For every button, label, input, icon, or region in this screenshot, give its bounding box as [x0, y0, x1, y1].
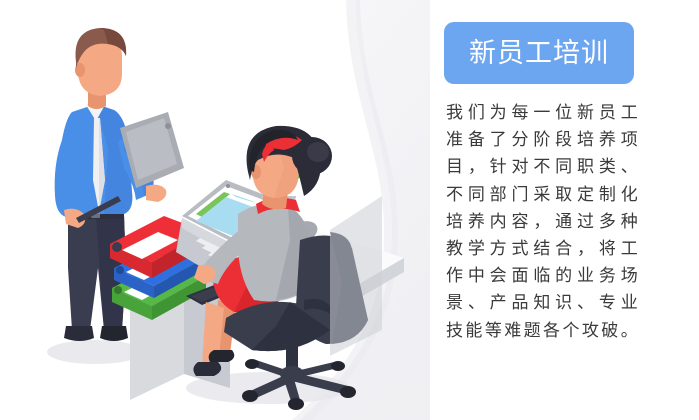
- page-title: 新员工培训: [469, 40, 609, 67]
- description-text: 我们为每一位新员工 准备了分阶段培养项 目，针对不同职类、 不同部门采取定制化 …: [446, 100, 638, 345]
- woman-shoe-back: [209, 350, 235, 362]
- description-line: 技能等难题各个攻破。: [446, 318, 638, 345]
- description-line: 目，针对不同职类、: [446, 154, 638, 181]
- title-badge: 新员工培训: [444, 22, 634, 84]
- man-shoe-left: [64, 326, 94, 341]
- description-line: 准备了分阶段培养项: [446, 127, 638, 154]
- description-line: 培养内容，通过多种: [446, 209, 638, 236]
- woman-shoe-front: [193, 362, 221, 376]
- description-line: 我们为每一位新员工: [446, 100, 638, 127]
- description-line: 作中会面临的业务场: [446, 263, 638, 290]
- office-illustration: [0, 0, 430, 420]
- description-line: 不同部门采取定制化: [446, 182, 638, 209]
- training-banner: 新员工培训 我们为每一位新员工 准备了分阶段培养项 目，针对不同职类、 不同部门…: [0, 0, 699, 420]
- content-column: 新员工培训 我们为每一位新员工 准备了分阶段培养项 目，针对不同职类、 不同部门…: [438, 0, 699, 420]
- man-shoe-right: [100, 326, 128, 341]
- description-line: 景、产品知识、专业: [446, 290, 638, 317]
- shadow-standing-man: [47, 340, 143, 364]
- man-hand-right: [146, 185, 166, 202]
- description-line: 教学方式结合，将工: [446, 236, 638, 263]
- partition-panel: [330, 196, 382, 356]
